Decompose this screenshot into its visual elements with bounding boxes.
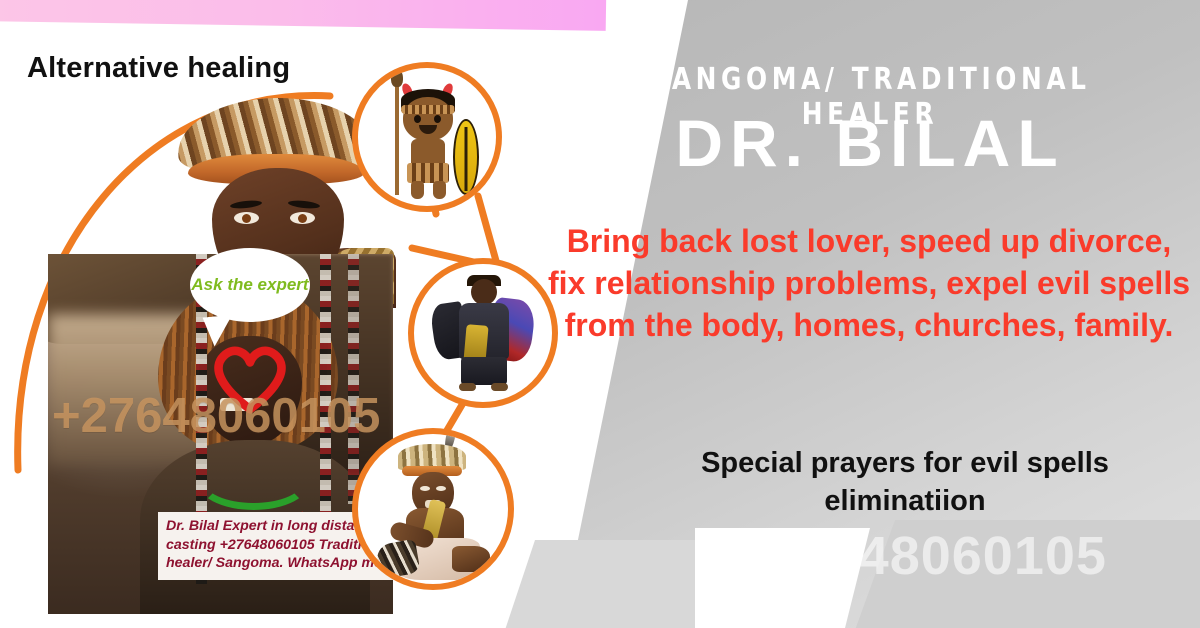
brand-title: DR. BILAL (560, 105, 1180, 181)
ask-the-expert-bubble: Ask the expert (190, 248, 310, 322)
hero-brow-left (230, 199, 263, 209)
healer-head (471, 279, 497, 305)
circle-zulu-warrior (352, 62, 502, 212)
hero-eye-left (234, 212, 259, 224)
warrior-headband (401, 105, 455, 114)
sangoma-eye-left (420, 486, 430, 491)
warrior-eye-left (414, 115, 421, 123)
shield-icon (453, 119, 479, 195)
hero-eye-right (290, 212, 315, 224)
circle-cloaked-healer (408, 258, 558, 408)
green-bead-necklace (196, 450, 311, 510)
sangoma-eye-right (436, 486, 446, 491)
zulu-warrior-illustration (367, 75, 487, 199)
page-title: Alternative healing (27, 52, 290, 85)
bead-strand (348, 254, 359, 504)
sangoma-leg (452, 546, 490, 572)
healer-pants (461, 357, 507, 385)
poster-canvas: SANGOMA/ TRADITIONAL HEALER DR. BILAL Br… (0, 0, 1200, 628)
healer-foot-left (459, 383, 476, 391)
hero-brow-right (288, 199, 321, 209)
warrior-leg-right (433, 181, 446, 199)
spear-icon (395, 77, 399, 195)
circle-crouching-sangoma (352, 428, 514, 590)
bubble-label: Ask the expert (191, 275, 308, 294)
crouching-sangoma-illustration (368, 442, 498, 582)
phone-watermark-photo: +27648060105 (52, 388, 452, 444)
warrior-eye-right (434, 115, 441, 123)
warrior-head (403, 97, 453, 141)
warrior-leg-left (411, 181, 424, 199)
services-text: Bring back lost lover, speed up divorce,… (548, 220, 1190, 347)
healer-with-cloak-illustration (429, 273, 537, 393)
healer-foot-right (491, 383, 508, 391)
warrior-skirt (407, 163, 449, 183)
left-collage: Alternative healing (0, 0, 560, 628)
special-prayers-text: Special prayers for evil spells eliminat… (620, 444, 1190, 521)
phone-watermark-right: +27648060105 (640, 525, 1200, 587)
